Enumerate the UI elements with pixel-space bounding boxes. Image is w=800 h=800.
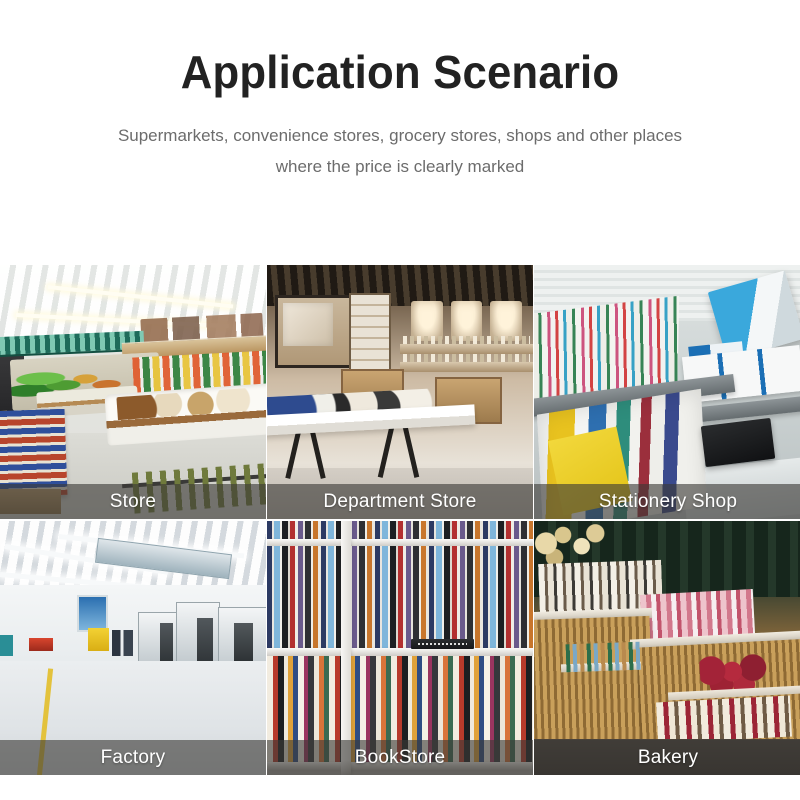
bookstore-photo	[267, 521, 533, 775]
scenario-tile-bakery[interactable]: Bakery	[534, 521, 800, 775]
scenario-label-store: Store	[110, 491, 156, 513]
scenario-label-stationery-shop: Stationery Shop	[599, 491, 737, 513]
scenario-tile-stationery-shop[interactable]: Stationery Shop	[534, 265, 800, 519]
scenario-tile-department-store[interactable]: Department Store	[267, 265, 533, 519]
scenario-label-bakery: Bakery	[638, 747, 698, 769]
application-scenario-page: Application Scenario Supermarkets, conve…	[0, 0, 800, 800]
page-header: Application Scenario Supermarkets, conve…	[0, 0, 800, 182]
stationery-shop-photo	[534, 265, 800, 519]
scenario-label-factory: Factory	[101, 747, 166, 769]
department-store-photo	[267, 265, 533, 519]
scenario-tile-store[interactable]: Store	[0, 265, 266, 519]
factory-photo	[0, 521, 266, 775]
page-title: Application Scenario	[20, 47, 780, 98]
scenario-label-department-store: Department Store	[323, 491, 476, 513]
scenario-tile-bookstore[interactable]: BookStore	[267, 521, 533, 775]
scenario-label-bookstore: BookStore	[355, 747, 446, 769]
tile-label-bar: Store	[0, 484, 266, 519]
tile-label-bar: BookStore	[267, 740, 533, 775]
scenario-tile-factory[interactable]: Factory	[0, 521, 266, 775]
tile-label-bar: Department Store	[267, 484, 533, 519]
tile-label-bar: Bakery	[534, 740, 800, 775]
tile-label-bar: Stationery Shop	[534, 484, 800, 519]
bakery-photo	[534, 521, 800, 775]
page-subtitle: Supermarkets, convenience stores, grocer…	[50, 120, 750, 182]
subtitle-line-2: where the price is clearly marked	[50, 151, 750, 182]
subtitle-line-1: Supermarkets, convenience stores, grocer…	[50, 120, 750, 151]
tile-label-bar: Factory	[0, 740, 266, 775]
scenario-grid: Store	[0, 265, 800, 775]
store-photo	[0, 265, 266, 519]
